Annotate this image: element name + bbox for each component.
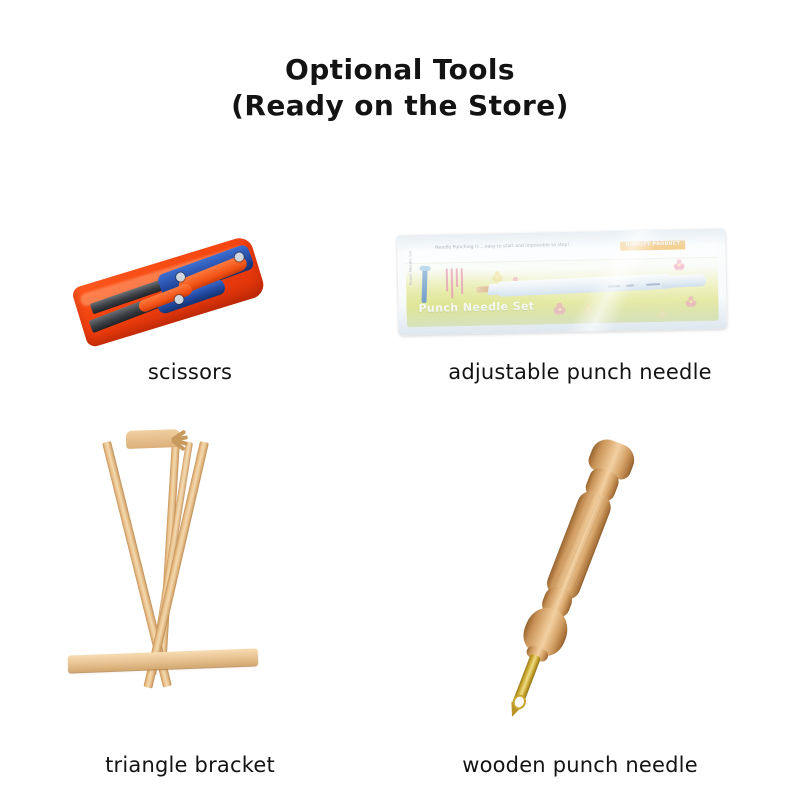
tools-grid: scissors Needle Punching is ...easy to s… [0,180,800,800]
triangle-bracket-figure [20,410,360,795]
punch-needle-package: Needle Punching is ...easy to start and … [397,229,727,336]
easel-ledge-bar [68,648,259,672]
adjustable-punch-needle-image: Needle Punching is ...easy to start and … [398,232,728,342]
easel-front-left-leg [102,441,172,688]
scissors-caption: scissors [20,360,360,384]
triangle-bracket-image [68,420,318,720]
package-plastic-blister [397,229,727,336]
easel-wing-screw-icon [172,432,192,448]
wooden-punch-needle-caption: wooden punch needle [380,753,780,777]
tool-item-adjustable-punch-needle[interactable]: Needle Punching is ...easy to start and … [380,200,780,400]
page-title: Optional Tools (Ready on the Store) [0,52,800,124]
adjustable-punch-needle-caption: adjustable punch needle [380,360,780,384]
tool-item-wooden-punch-needle[interactable]: wooden punch needle [380,410,780,795]
triangle-bracket-caption: triangle bracket [20,753,360,777]
wooden-punch-needle-figure [380,410,780,795]
tool-item-scissors[interactable]: scissors [20,200,360,400]
scissors-image [76,238,276,348]
page-title-line-1: Optional Tools [0,52,800,88]
page-title-line-2: (Ready on the Store) [0,88,800,124]
tool-item-triangle-bracket[interactable]: triangle bracket [20,410,360,795]
wooden-punch-needle-image [410,420,740,730]
